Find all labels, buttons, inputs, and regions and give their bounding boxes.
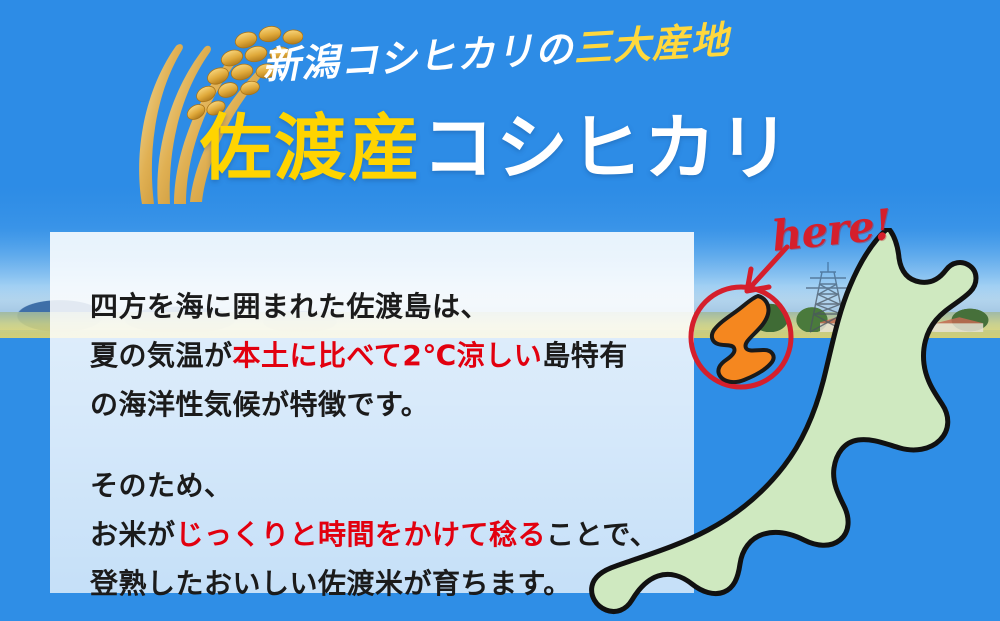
subtitle-highlight: 三大産地	[572, 18, 730, 71]
title-white-part: コシヒカリ	[422, 105, 792, 190]
title-gold-part: 佐渡産	[200, 105, 422, 190]
paragraph2-line2: お米がじっくりと時間をかけて稔ることで、	[90, 510, 670, 559]
banner-root: 新潟コシヒカリの三大産地 佐渡産コシヒカリ 四方を海に囲まれた佐渡島は、 夏の気…	[0, 0, 1000, 621]
paragraph-gap	[90, 429, 670, 461]
p2-l2-pre: お米が	[90, 518, 176, 551]
body-copy: 四方を海に囲まれた佐渡島は、 夏の気温が本土に比べて2℃涼しい島特有 の海洋性気…	[90, 282, 670, 608]
page-title: 佐渡産コシヒカリ	[200, 112, 792, 184]
paragraph1-line3: の海洋性気候が特徴です。	[90, 380, 670, 429]
p1-l2-pre: 夏の気温が	[90, 339, 233, 372]
paragraph1-line2: 夏の気温が本土に比べて2℃涼しい島特有	[90, 331, 670, 380]
paragraph2-line1: そのため、	[90, 461, 670, 510]
sado-island-shape	[702, 292, 784, 384]
paragraph1-line1: 四方を海に囲まれた佐渡島は、	[90, 282, 670, 331]
p1-emphasis: 本土に比べて2℃涼しい	[233, 339, 543, 372]
paragraph2-line3: 登熟したおいしい佐渡米が育ちます。	[90, 559, 670, 608]
p2-emphasis: じっくりと時間をかけて稔る	[176, 518, 547, 551]
